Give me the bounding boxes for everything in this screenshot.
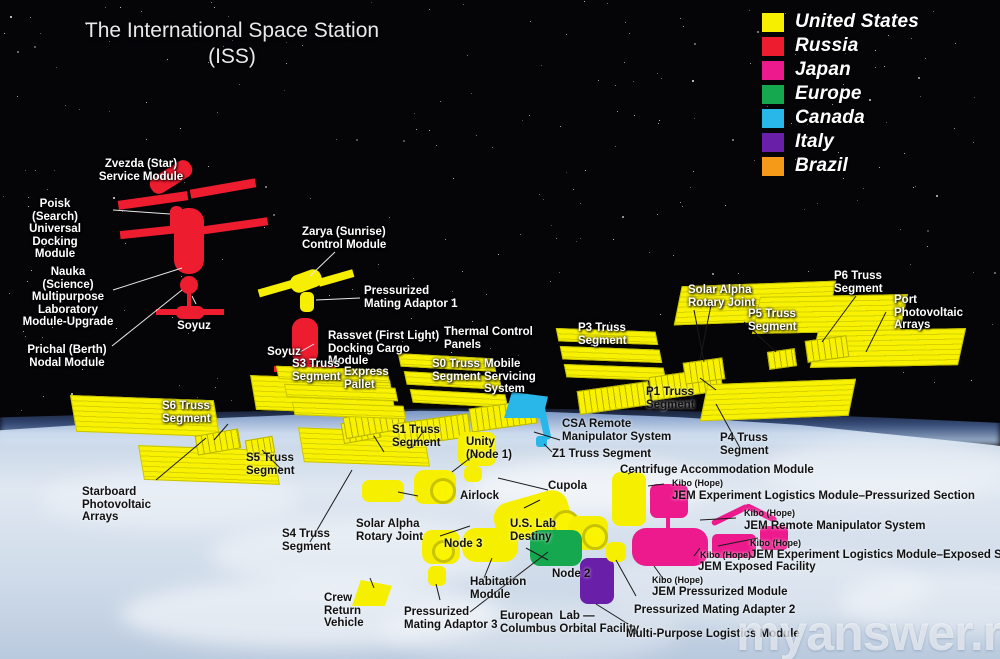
star: [936, 195, 938, 197]
star: [550, 281, 551, 282]
label-mobile-servicing-system: Mobile Servicing System: [484, 358, 536, 396]
star: [284, 90, 285, 91]
star: [927, 246, 928, 247]
star: [17, 51, 19, 53]
star: [634, 115, 635, 116]
star: [690, 187, 691, 188]
label-jem-rms: JEM Remote Manipulator System: [744, 520, 925, 533]
star: [122, 211, 123, 212]
star: [915, 186, 916, 187]
canadarm2-end-effector: [536, 436, 547, 447]
label-soyuz-upper: Soyuz: [172, 320, 216, 333]
label-sarj-starboard: Solar Alpha Rotary Joint: [356, 518, 423, 543]
star: [239, 84, 240, 85]
star: [680, 18, 681, 19]
label-jem-pressurized-module: JEM Pressurized Module: [652, 586, 787, 599]
star: [913, 187, 914, 188]
star: [179, 385, 180, 386]
legend-label-ru: Russia: [795, 35, 859, 57]
star: [414, 113, 415, 114]
title-line-1: The International Space Station: [72, 18, 392, 44]
label-s3-truss: S3 Truss Segment: [292, 358, 341, 383]
label-express-pallet: Express Pallet: [344, 366, 389, 391]
legend-label-ca: Canada: [795, 107, 865, 129]
nauka-mlm-module: [174, 208, 204, 274]
legend-item-it: Italy: [762, 130, 919, 154]
star: [658, 123, 659, 124]
star: [585, 170, 586, 171]
star: [556, 238, 557, 239]
star: [231, 400, 232, 401]
label-zvezda: Zvezda (Star) Service Module: [76, 158, 206, 183]
star: [47, 189, 48, 190]
star: [633, 81, 634, 82]
label-p3-truss: P3 Truss Segment: [578, 322, 627, 347]
jem-pressurized-module: [632, 528, 708, 566]
star: [541, 65, 542, 66]
star: [416, 129, 417, 130]
star: [453, 178, 454, 179]
label-prichal: Prichal (Berth) Nodal Module: [18, 344, 116, 369]
label-kibo-tag-ef: Kibo (Hope): [700, 550, 751, 560]
iss-diagram-canvas: The International Space Station (ISS) Un…: [0, 0, 1000, 659]
star: [659, 120, 660, 121]
star: [265, 186, 267, 188]
label-cupola: Cupola: [548, 480, 587, 493]
label-sarj-port: Solar Alpha Rotary Joint: [688, 284, 755, 309]
star: [25, 170, 26, 171]
soyuz-upper-array-right: [202, 309, 224, 315]
legend-item-eu: Europe: [762, 82, 919, 106]
star: [518, 355, 519, 356]
star: [462, 271, 463, 272]
star: [113, 197, 115, 199]
label-p5-truss: P5 Truss Segment: [748, 308, 797, 333]
label-kibo-tag-rms: Kibo (Hope): [744, 508, 795, 518]
star: [146, 139, 147, 140]
star: [4, 33, 5, 34]
label-jem-exposed-facility: JEM Exposed Facility: [698, 561, 816, 574]
label-s6-truss: S6 Truss Segment: [162, 400, 211, 425]
star: [566, 34, 567, 35]
star: [217, 112, 218, 113]
legend-swatch-jp: [762, 61, 784, 80]
star: [215, 387, 216, 388]
star: [657, 214, 658, 215]
star: [429, 9, 430, 10]
star: [725, 205, 726, 206]
star: [973, 272, 974, 273]
soyuz-upper-array-left: [156, 309, 178, 315]
star: [934, 382, 935, 383]
star: [559, 272, 560, 273]
star: [498, 254, 499, 255]
star: [208, 166, 209, 167]
label-pma-1: Pressurized Mating Adaptor 1: [364, 285, 458, 310]
star: [954, 128, 955, 129]
star: [79, 109, 80, 110]
star: [584, 1, 585, 2]
star: [863, 188, 864, 189]
star: [910, 264, 911, 265]
star: [622, 216, 624, 218]
label-jem-elm-exposed: JEM Experiment Logistics Module–Exposed …: [750, 549, 1000, 562]
star: [389, 217, 390, 218]
star: [683, 26, 684, 27]
legend-label-us: United States: [795, 11, 919, 33]
unity-port-ring: [430, 478, 456, 504]
star: [754, 160, 755, 161]
star: [463, 4, 464, 5]
star: [25, 336, 26, 337]
star: [451, 352, 452, 353]
star: [615, 146, 616, 147]
label-csa-rms: CSA Remote Manipulator System: [562, 418, 671, 443]
cupola: [464, 466, 482, 482]
label-p1-truss: P1 Truss Segment: [646, 386, 695, 411]
star: [371, 2, 372, 3]
label-starboard-arrays: Starboard Photovoltaic Arrays: [82, 486, 151, 524]
star: [522, 120, 523, 121]
star: [264, 227, 265, 228]
legend-item-jp: Japan: [762, 58, 919, 82]
p4-array-lower: [700, 379, 856, 422]
star: [378, 264, 379, 265]
label-port-arrays: Port Photovoltaic Arrays: [894, 294, 963, 332]
star: [336, 139, 337, 140]
star: [105, 7, 106, 8]
star: [615, 85, 616, 86]
star: [356, 139, 358, 141]
star: [927, 230, 929, 232]
label-p6-truss: P6 Truss Segment: [834, 270, 883, 295]
star: [613, 239, 614, 240]
legend-swatch-ru: [762, 37, 784, 56]
star: [56, 67, 57, 68]
star: [657, 73, 658, 74]
star: [857, 200, 858, 201]
star: [804, 209, 805, 210]
p5-truss-segment: [767, 348, 797, 370]
legend-swatch-ca: [762, 109, 784, 128]
legend-label-jp: Japan: [795, 59, 851, 81]
star: [440, 101, 441, 102]
label-z1-truss: Z1 Truss Segment: [552, 448, 651, 461]
star: [738, 273, 739, 274]
star: [429, 130, 430, 131]
pma-2: [606, 542, 626, 562]
label-thermal-panels: Thermal Control Panels: [444, 326, 533, 351]
star: [680, 202, 681, 203]
star: [539, 194, 540, 195]
star: [694, 118, 695, 119]
star: [694, 43, 696, 45]
legend-label-br: Brazil: [795, 155, 848, 177]
star: [413, 278, 414, 279]
label-s5-truss: S5 Truss Segment: [246, 452, 295, 477]
star: [222, 259, 223, 260]
star: [54, 170, 55, 171]
label-kibo-tag-elm-es: Kibo (Hope): [750, 538, 801, 548]
star: [580, 203, 581, 204]
country-legend: United States Russia Japan Europe Canada…: [762, 10, 919, 178]
star: [310, 198, 311, 199]
multi-purpose-logistics-module: [580, 558, 614, 604]
legend-item-ca: Canada: [762, 106, 919, 130]
star: [472, 321, 473, 322]
site-watermark: myanswer.ru: [736, 604, 1000, 659]
legend-swatch-eu: [762, 85, 784, 104]
star: [403, 140, 405, 142]
star: [732, 139, 734, 141]
star: [445, 239, 446, 240]
label-pma-3: Pressurized Mating Adaptor 3: [404, 606, 498, 631]
label-p4-truss: P4 Truss Segment: [720, 432, 769, 457]
label-s0-truss: S0 Truss Segment: [432, 358, 481, 383]
star: [172, 317, 173, 318]
star: [228, 16, 229, 17]
label-node-3: Node 3: [444, 538, 482, 551]
legend-swatch-br: [762, 157, 784, 176]
star: [617, 111, 618, 112]
label-s1-truss: S1 Truss Segment: [392, 424, 441, 449]
label-centrifuge-module: Centrifuge Accommodation Module: [620, 464, 814, 477]
star: [660, 314, 661, 315]
star: [188, 333, 189, 334]
star: [933, 11, 934, 12]
star: [649, 252, 650, 253]
star: [35, 170, 36, 171]
star: [352, 289, 353, 290]
star: [34, 46, 36, 48]
star: [693, 171, 694, 172]
star: [843, 178, 844, 179]
star: [141, 11, 142, 12]
legend-label-it: Italy: [795, 131, 834, 153]
star: [974, 97, 975, 98]
star: [109, 111, 110, 112]
star: [214, 7, 215, 8]
label-habitation-module: Habitation Module: [470, 576, 526, 601]
pma-3: [428, 566, 446, 586]
label-soyuz-lower: Soyuz: [262, 346, 306, 359]
star: [529, 115, 530, 116]
node-2-ring: [582, 524, 608, 550]
star: [42, 337, 43, 338]
star: [471, 93, 472, 94]
star: [116, 328, 117, 329]
star: [607, 3, 608, 4]
star: [40, 33, 41, 34]
star: [273, 214, 275, 216]
star: [750, 63, 751, 64]
star: [573, 189, 574, 190]
star: [955, 43, 956, 44]
label-rassvet: Rassvet (First Light) Docking Cargo Modu…: [328, 330, 439, 368]
star: [492, 147, 493, 148]
star: [598, 80, 599, 81]
star: [994, 272, 996, 274]
star: [624, 62, 625, 63]
star: [971, 380, 972, 381]
star: [180, 128, 181, 129]
star: [920, 96, 921, 97]
star: [476, 135, 477, 136]
star: [21, 410, 22, 411]
label-columbus: European Lab — Columbus Orbital Facility: [500, 610, 639, 635]
label-kibo-tag-elm-ps: Kibo (Hope): [672, 478, 723, 488]
star: [30, 17, 31, 18]
legend-item-br: Brazil: [762, 154, 919, 178]
label-crew-return-vehicle: Crew Return Vehicle: [324, 592, 364, 630]
label-poisk: Poisk (Search) Universal Docking Module: [10, 198, 100, 261]
star: [808, 271, 809, 272]
airlock: [362, 480, 404, 502]
star: [10, 16, 12, 18]
star: [625, 22, 626, 23]
star: [197, 397, 198, 398]
label-node-2: Node 2: [552, 568, 590, 581]
star: [211, 2, 212, 3]
star: [973, 142, 974, 143]
star: [530, 21, 531, 22]
star: [23, 331, 24, 332]
star: [992, 324, 993, 325]
star: [124, 310, 125, 311]
star: [749, 10, 750, 11]
pma-1: [300, 292, 314, 312]
star: [543, 199, 544, 200]
star: [181, 276, 182, 277]
star: [560, 126, 561, 127]
label-airlock: Airlock: [460, 490, 499, 503]
label-kibo-tag-pm: Kibo (Hope): [652, 575, 703, 585]
star: [576, 241, 577, 242]
star: [682, 206, 683, 207]
legend-label-eu: Europe: [795, 83, 862, 105]
star: [900, 229, 901, 230]
label-zarya: Zarya (Sunrise) Control Module: [302, 226, 386, 251]
label-nauka: Nauka (Science) Multipurpose Laboratory …: [22, 266, 114, 329]
label-s4-truss: S4 Truss Segment: [282, 528, 331, 553]
label-unity-node-1: Unity (Node 1): [466, 436, 512, 461]
star: [817, 203, 818, 204]
label-us-lab-destiny: U.S. Lab Destiny: [510, 518, 556, 543]
centrifuge-accommodation-module: [612, 472, 646, 526]
star: [757, 31, 759, 33]
star: [65, 105, 66, 106]
star: [925, 58, 926, 59]
label-jem-elm-pressurized: JEM Experiment Logistics Module–Pressuri…: [672, 490, 975, 503]
star: [566, 172, 567, 173]
star: [125, 243, 126, 244]
star: [217, 378, 218, 379]
star: [661, 78, 662, 79]
legend-item-ru: Russia: [762, 34, 919, 58]
star: [120, 7, 121, 8]
star: [903, 372, 904, 373]
star: [411, 318, 412, 319]
star: [146, 102, 147, 103]
soyuz-upper-body: [176, 306, 204, 319]
star: [692, 80, 694, 82]
title-line-2: (ISS): [72, 44, 392, 70]
legend-swatch-it: [762, 133, 784, 152]
star: [17, 96, 18, 97]
star: [580, 238, 581, 239]
star: [3, 196, 4, 197]
star: [712, 273, 714, 275]
star: [629, 33, 630, 34]
page-title: The International Space Station (ISS): [72, 18, 392, 70]
star: [436, 145, 437, 146]
star: [673, 255, 674, 256]
legend-item-us: United States: [762, 10, 919, 34]
star: [520, 234, 521, 235]
star: [43, 396, 44, 397]
star: [467, 55, 468, 56]
star: [486, 294, 487, 295]
star: [9, 293, 10, 294]
legend-swatch-us: [762, 13, 784, 32]
star: [329, 295, 330, 296]
star: [551, 225, 552, 226]
